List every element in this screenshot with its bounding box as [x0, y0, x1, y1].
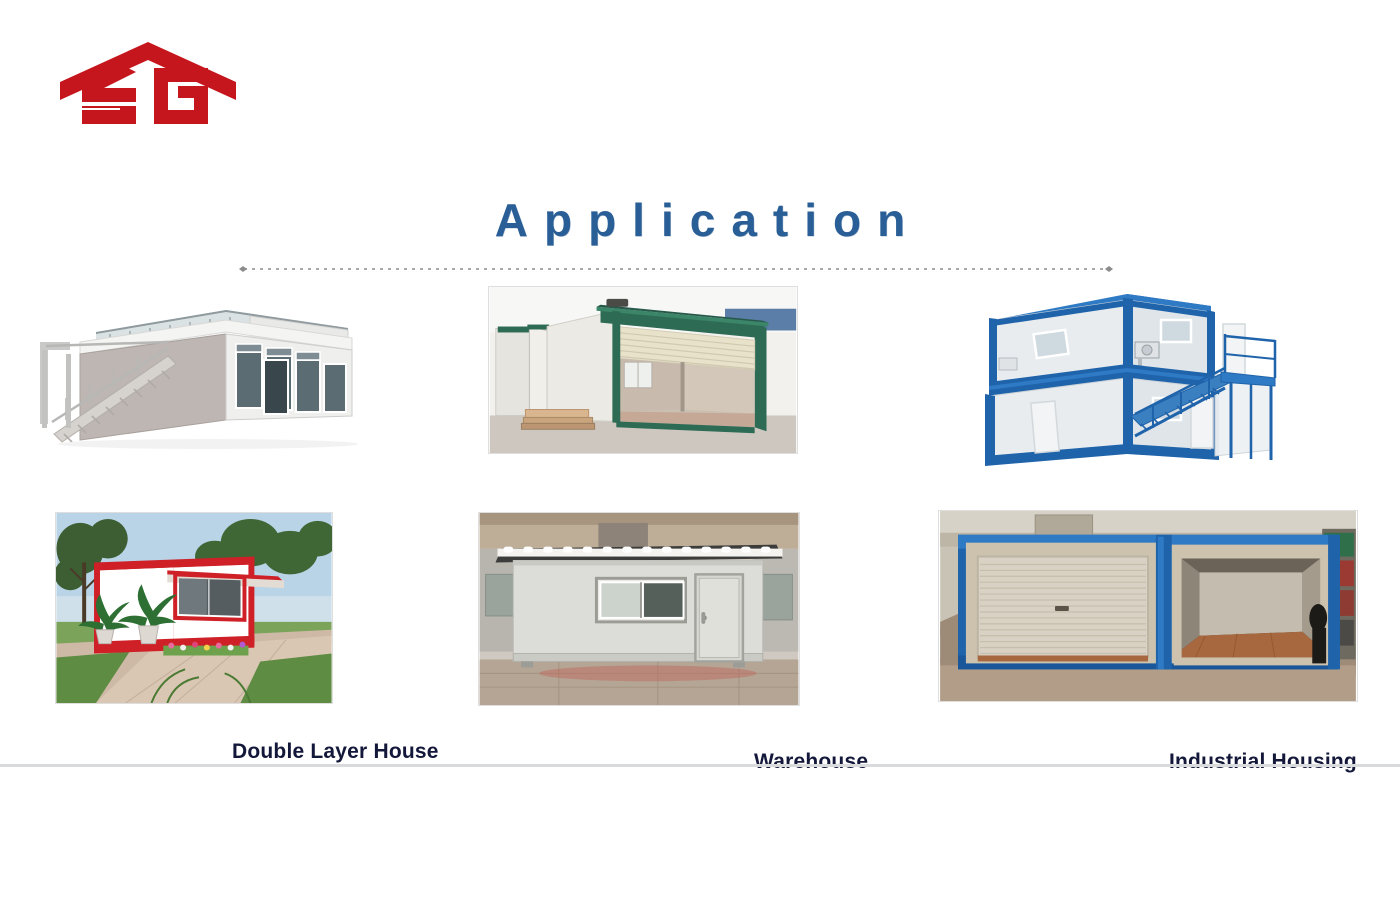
brand-logo-2g[interactable]	[58, 38, 238, 128]
page-title: Application	[479, 196, 921, 244]
logo-2g-monogram-icon	[82, 63, 208, 124]
garage-image[interactable]	[938, 510, 1358, 702]
gallery-row-2: Store	[0, 512, 1400, 752]
divider-left-diamond-icon	[239, 266, 247, 272]
footer-divider	[0, 764, 1400, 767]
gallery-caption-warehouse: Warehouse	[754, 750, 868, 774]
divider-right-diamond-icon	[1105, 266, 1113, 272]
warehouse-image[interactable]	[488, 286, 798, 454]
industrial-housing-image[interactable]	[975, 286, 1365, 466]
guard-room-image[interactable]	[478, 512, 800, 706]
application-gallery: Double Layer House	[0, 282, 1400, 752]
gallery-row-1: Double Layer House	[0, 282, 1400, 494]
title-divider	[238, 259, 1114, 265]
application-page: Application	[0, 0, 1400, 900]
shutter-handle-icon	[1055, 606, 1069, 611]
gallery-caption-industrial-housing: Industrial Housing	[1169, 750, 1357, 774]
store-image[interactable]	[55, 512, 333, 704]
page-title-block: Application	[0, 196, 1400, 244]
double-layer-house-image[interactable]	[18, 294, 366, 454]
